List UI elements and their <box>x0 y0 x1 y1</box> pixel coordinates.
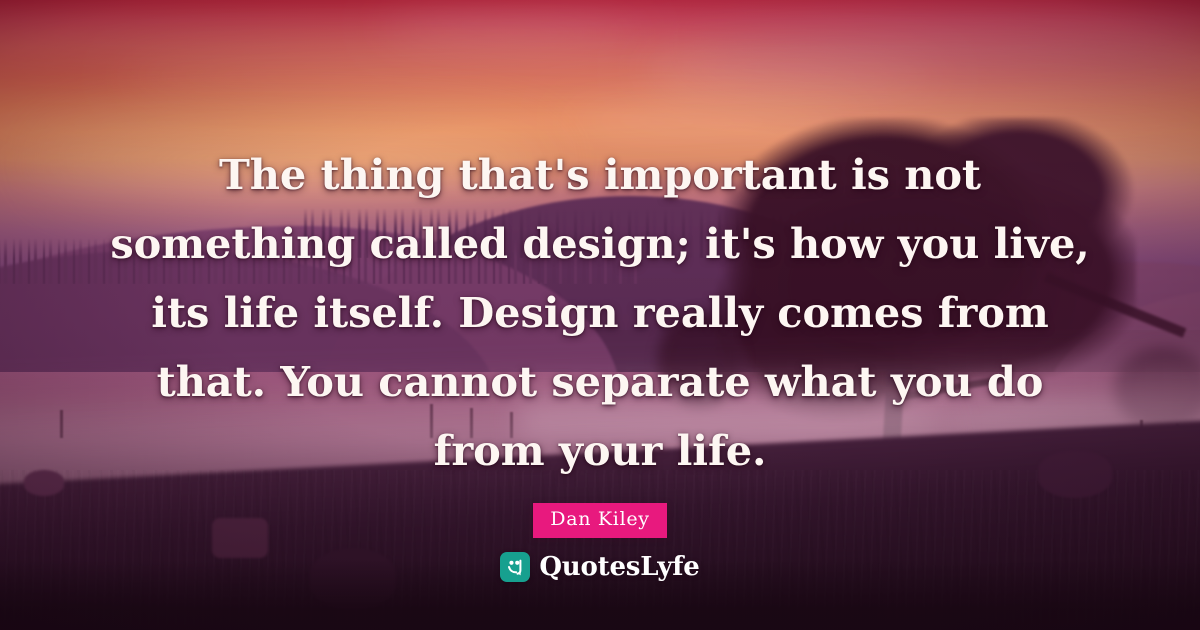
author-badge: Dan Kiley <box>533 503 666 538</box>
brand-logo[interactable]: QuotesLyfe <box>0 552 1200 582</box>
author-row: Dan Kiley <box>533 503 666 538</box>
quote-smiley-icon <box>500 552 530 582</box>
quote-card: The thing that's important is not someth… <box>0 0 1200 630</box>
quote-text: The thing that's important is not someth… <box>95 140 1105 485</box>
brand-wordmark: QuotesLyfe <box>539 552 699 582</box>
card-content: The thing that's important is not someth… <box>0 0 1200 630</box>
